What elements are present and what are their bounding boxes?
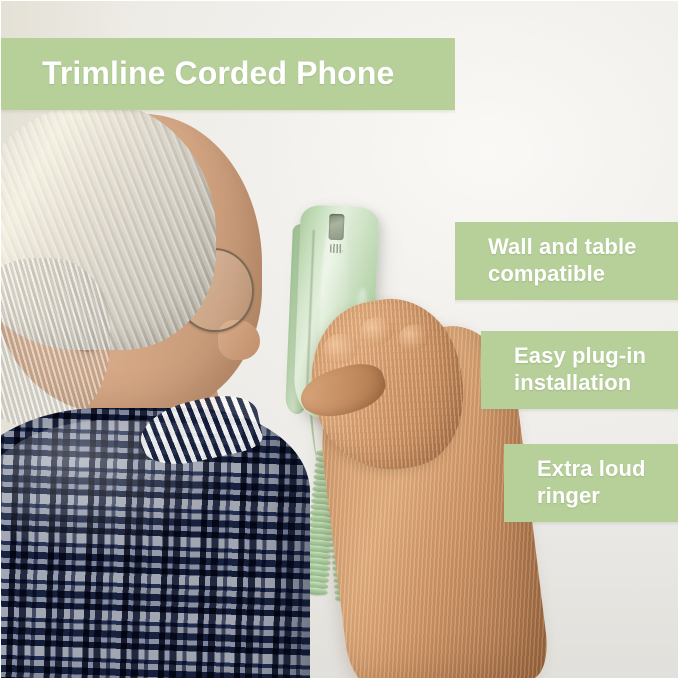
feature-label: Wall and table compatible xyxy=(488,234,665,288)
feature-label: Easy plug-in installation xyxy=(514,343,665,397)
phone-earpiece-grill xyxy=(330,244,343,253)
phone-earpiece xyxy=(329,214,345,241)
feature-label: Extra loud ringer xyxy=(537,456,665,510)
product-feature-image: Trimline Corded Phone Wall and table com… xyxy=(0,0,679,679)
product-title-banner: Trimline Corded Phone xyxy=(0,38,455,110)
feature-banner-loud-ringer: Extra loud ringer xyxy=(504,444,679,522)
feature-banner-plug-in: Easy plug-in installation xyxy=(481,331,679,409)
page-title: Trimline Corded Phone xyxy=(42,54,394,93)
person-photo xyxy=(0,108,330,679)
feature-banner-wall-table: Wall and table compatible xyxy=(455,222,679,300)
